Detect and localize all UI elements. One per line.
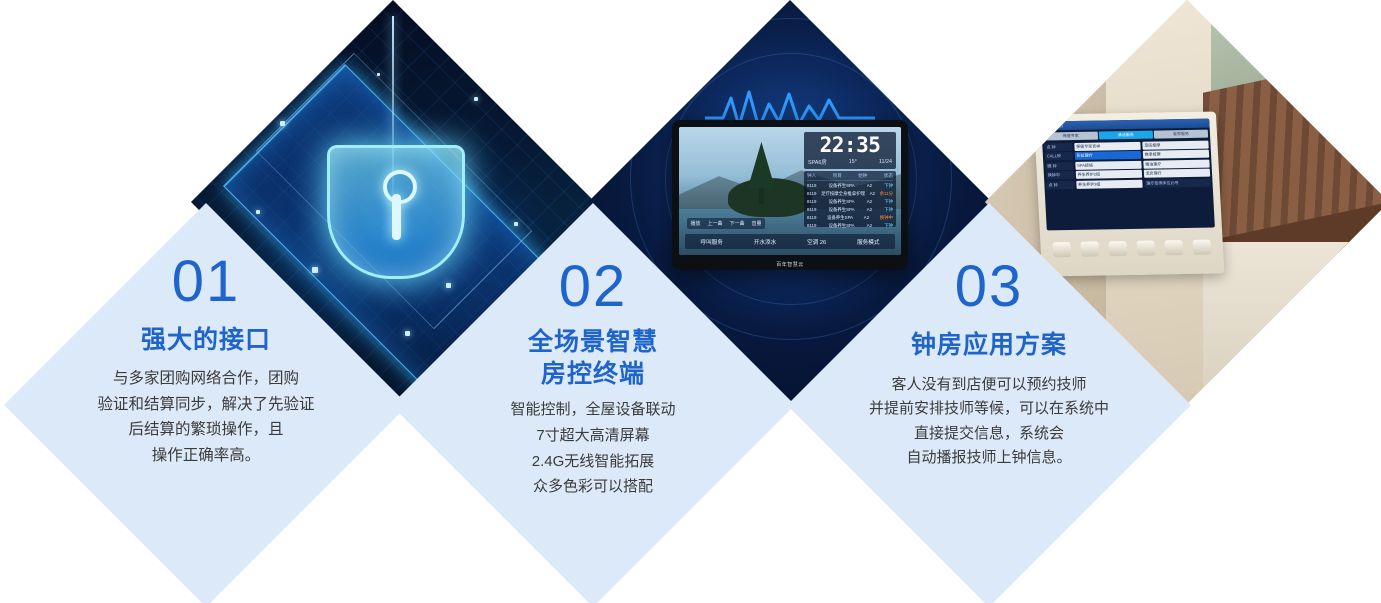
- card-body-line: 与多家团购网络合作，团购: [56, 366, 356, 392]
- row-id: 8119: [807, 207, 816, 213]
- row-status: 下钟: [884, 207, 893, 213]
- panel-hard-buttons[interactable]: [1046, 228, 1216, 269]
- row-status: 下钟: [884, 183, 893, 189]
- card-title-line: 全场景智慧: [528, 326, 658, 358]
- rail-item[interactable]: 圈 钟: [1045, 162, 1073, 170]
- hard-button[interactable]: [1136, 240, 1155, 256]
- media-button-play[interactable]: 播放: [690, 220, 700, 227]
- service-list-header: 钟人 项目 始钟 状态: [807, 173, 893, 181]
- room-control-tablet: CS1280 22:35 SPA6房 15° 11/24: [672, 120, 908, 270]
- row-item: 设备养生SPA: [829, 199, 855, 205]
- rail-item[interactable]: 点 钟: [1044, 143, 1072, 151]
- menu-item[interactable]: 推拿按摩: [1142, 150, 1208, 159]
- panel-menu-left[interactable]: 保健专家吉祥 彩虹理疗 SPA经络 养生养护2组 养生养护3组: [1073, 142, 1144, 229]
- row-status: 下钟: [884, 223, 893, 229]
- rail-item[interactable]: CALL钟: [1044, 152, 1072, 160]
- row-status: 换钟中: [880, 215, 893, 221]
- temperature-value: 15°: [849, 159, 857, 165]
- hard-button[interactable]: [1192, 239, 1211, 255]
- card-body: 与多家团购网络合作，团购 验证和结算同步，解决了先验证 后结算的繁琐操作，且 操…: [56, 366, 356, 468]
- panel-screen[interactable]: 客房控制 保健专家 清洁服务 管家服务 点 钟 CALL钟 圈 钟 换钟中 点 …: [1041, 119, 1215, 231]
- plant-1: [1305, 310, 1365, 380]
- tab-cleaning-service[interactable]: 清洁服务: [1098, 130, 1152, 139]
- card-body: 客人没有到店便可以预约技师 并提前安排技师等候，可以在系统中 直接提交信息，系统…: [829, 373, 1149, 470]
- row-item: 设备养生SPA: [829, 207, 855, 213]
- card-body-line: 2.4G无线智能拓展: [443, 449, 743, 475]
- menu-item[interactable]: 保健专家吉祥: [1073, 142, 1139, 151]
- card-title: 强大的接口: [141, 324, 271, 356]
- clock-time: 22:35: [808, 135, 892, 156]
- clock-widget: 22:35 SPA6房 15° 11/24: [804, 132, 896, 169]
- action-aircon[interactable]: 空调 26: [807, 238, 826, 246]
- row-room: A2: [867, 199, 872, 205]
- table-row[interactable]: 8119 设备养生SPA A2 换钟中: [807, 215, 893, 221]
- rail-item[interactable]: 换钟中: [1045, 172, 1073, 180]
- card-title: 全场景智慧 房控终端: [528, 326, 658, 390]
- media-button-prev[interactable]: 上一曲: [707, 220, 722, 227]
- row-status: 余11分: [880, 191, 893, 197]
- card-body-line: 直接提交信息，系统会: [829, 422, 1149, 446]
- table-row[interactable]: 8119 设备养生SPA A2 下钟: [807, 199, 893, 205]
- panel-body: 点 钟 CALL钟 圈 钟 换钟中 点 钟 保健专家吉祥 彩虹理疗 SPA经络 …: [1042, 139, 1215, 231]
- menu-item[interactable]: 养生养护2组: [1075, 170, 1141, 179]
- wallpaper-tree: [759, 152, 764, 204]
- panel-rail-column[interactable]: 点 钟 CALL钟 圈 钟 换钟中 点 钟: [1044, 143, 1076, 229]
- rail-item[interactable]: 点 钟: [1046, 181, 1074, 189]
- card-number: 03: [955, 258, 1024, 316]
- col-header-item: 项目: [833, 173, 842, 179]
- row-room: A2: [867, 183, 872, 189]
- feature-diamond-banner: CS1280 22:35 SPA6房 15° 11/24: [0, 0, 1381, 603]
- hard-button[interactable]: [1080, 241, 1099, 257]
- row-room: A2: [867, 207, 872, 213]
- service-list-widget[interactable]: 钟人 项目 始钟 状态 8119 设备养生SPA A2 下钟 8119: [804, 171, 896, 227]
- action-service-mode[interactable]: 服务模式: [857, 238, 879, 246]
- col-header-person: 钟人: [807, 173, 816, 179]
- hard-button[interactable]: [1052, 242, 1071, 258]
- row-room: A2: [867, 223, 872, 229]
- menu-item[interactable]: SPA经络: [1075, 161, 1141, 170]
- card-title-line: 房控终端: [528, 358, 658, 390]
- action-call-service[interactable]: 呼叫服务: [700, 238, 722, 246]
- card-body-line: 众多色彩可以搭配: [443, 474, 743, 500]
- row-id: 8119: [807, 191, 816, 197]
- hard-button[interactable]: [1164, 240, 1183, 256]
- row-id: 8119: [807, 199, 816, 205]
- date-value: 11/24: [879, 159, 892, 165]
- row-room: A2: [870, 191, 875, 197]
- table-row[interactable]: 8119 设备养生SPA A2 下钟: [807, 223, 893, 229]
- row-item: 足疗按摩全身推拿护理: [821, 191, 865, 197]
- tablet-screen: 22:35 SPA6房 15° 11/24 钟人 项目 始钟 状态: [679, 127, 901, 255]
- card-title: 钟房应用方案: [911, 329, 1067, 361]
- card-body: 智能控制，全屋设备联动 7寸超大高清屏幕 2.4G无线智能拓展 众多色彩可以搭配: [443, 397, 743, 500]
- card-body-line: 自动播报技师上钟信息。: [829, 446, 1149, 470]
- menu-item[interactable]: 理疗技师床位15号: [1144, 179, 1210, 188]
- row-item: 设备养生SPA: [829, 223, 855, 229]
- card-body-line: 操作正确率高。: [56, 443, 356, 469]
- card-body-line: 后结算的繁琐操作，且: [56, 417, 356, 443]
- col-header-status: 状态: [884, 173, 893, 179]
- card-body-line: 并提前安排技师等候，可以在系统中: [829, 397, 1149, 421]
- hard-button[interactable]: [1108, 241, 1127, 257]
- row-id: 8119: [807, 223, 816, 229]
- tab-butler-service[interactable]: 管家服务: [1153, 129, 1207, 138]
- table-row[interactable]: 8119 足疗按摩全身推拿护理 A2 余11分: [807, 191, 893, 197]
- card-body-line: 智能控制，全屋设备联动: [443, 397, 743, 423]
- action-water[interactable]: 开水添水: [754, 238, 776, 246]
- card-number: 01: [172, 253, 241, 311]
- tab-health-expert[interactable]: 保健专家: [1043, 131, 1097, 140]
- media-button-volume[interactable]: 音量: [751, 220, 761, 227]
- menu-item[interactable]: 足底按摩: [1142, 140, 1208, 149]
- card-body-line: 7寸超大高清屏幕: [443, 423, 743, 449]
- shield-icon: [327, 145, 465, 279]
- card-body-line: 验证和结算同步，解决了先验证: [56, 392, 356, 418]
- bottom-action-bar[interactable]: 呼叫服务 开水添水 空调 26 服务模式: [685, 234, 895, 249]
- media-button-next[interactable]: 下一曲: [729, 220, 744, 227]
- menu-item-selected[interactable]: 彩虹理疗: [1074, 151, 1140, 160]
- row-id: 8119: [807, 215, 816, 221]
- card-number: 02: [559, 258, 628, 316]
- menu-item[interactable]: 精油理疗: [1143, 160, 1209, 169]
- menu-item[interactable]: 泥灸理疗: [1143, 169, 1209, 178]
- table-row[interactable]: 8119 设备养生SPA A2 下钟: [807, 207, 893, 213]
- clock-subline: SPA6房 15° 11/24: [808, 158, 892, 166]
- plant-3: [1286, 48, 1332, 102]
- media-control-bar[interactable]: 播放 上一曲 下一曲 音量: [687, 218, 765, 229]
- row-item: 设备养生SPA: [829, 183, 855, 189]
- table-row[interactable]: 8119 设备养生SPA A2 下钟: [807, 183, 893, 189]
- panel-menu-right[interactable]: 足底按摩 推拿按摩 精油理疗 泥灸理疗 理疗技师床位15号: [1142, 140, 1213, 227]
- row-item: 设备养生SPA: [827, 215, 853, 221]
- row-status: 下钟: [884, 199, 893, 205]
- col-header-start: 始钟: [858, 173, 867, 179]
- wall-control-panel[interactable]: 客房控制 保健专家 清洁服务 管家服务 点 钟 CALL钟 圈 钟 换钟中 点 …: [1033, 112, 1223, 277]
- menu-item[interactable]: 养生养护3组: [1076, 180, 1142, 189]
- card-body-line: 客人没有到店便可以预约技师: [829, 373, 1149, 397]
- plant-2: [1238, 336, 1292, 396]
- floor: [1203, 242, 1381, 404]
- row-id: 8119: [807, 183, 816, 189]
- tablet-brand-bottom: 百年智慧云: [672, 261, 908, 268]
- room-label: SPA6房: [808, 158, 827, 166]
- row-room: A2: [864, 215, 869, 221]
